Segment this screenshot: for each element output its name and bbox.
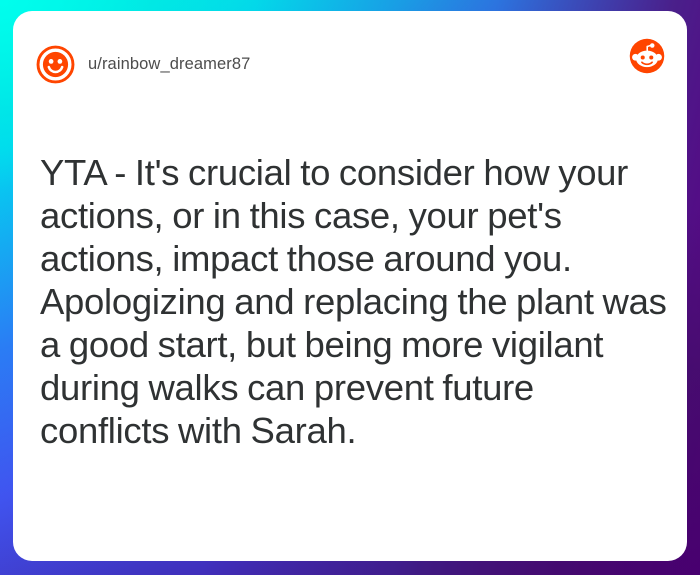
author-block[interactable]: u/rainbow_dreamer87: [36, 45, 250, 84]
screenshot-root: u/rainbow_dreamer87: [0, 0, 700, 575]
comment-body: YTA - It's crucial to consider how your …: [40, 151, 668, 452]
comment-text: YTA - It's crucial to consider how your …: [40, 151, 668, 452]
card-header: u/rainbow_dreamer87: [13, 11, 687, 117]
username-label: u/rainbow_dreamer87: [88, 55, 250, 74]
reddit-comment-card: u/rainbow_dreamer87: [13, 11, 687, 561]
reddit-snoo-icon: [629, 38, 665, 74]
smiley-face-avatar-icon: [36, 45, 75, 84]
reddit-logo-container[interactable]: [629, 38, 665, 74]
